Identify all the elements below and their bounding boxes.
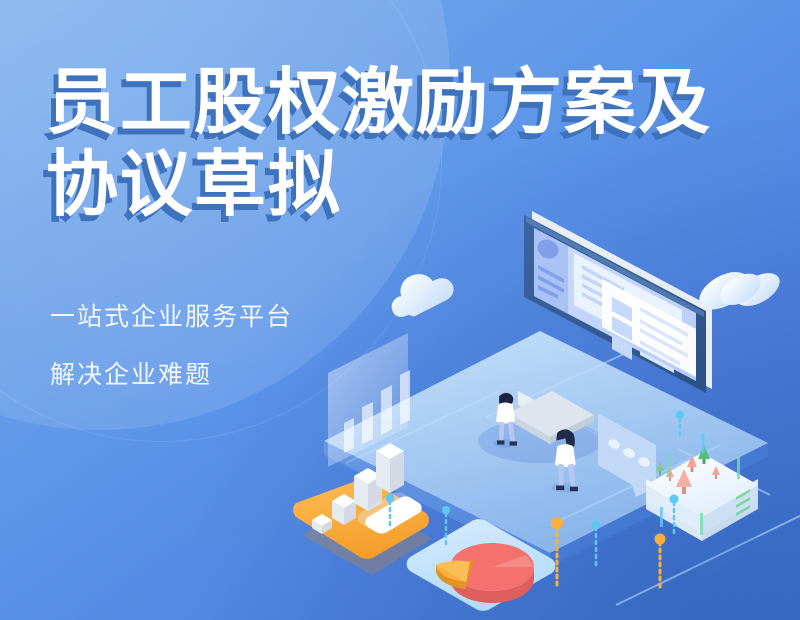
subtitle-line-1: 一站式企业服务平台 xyxy=(50,302,293,332)
marker-dot-orange-2 xyxy=(655,534,666,545)
subtitle-block: 一站式企业服务平台 解决企业难题 xyxy=(50,302,293,418)
isometric-illustration xyxy=(250,195,800,620)
marker-dot-cyan xyxy=(386,494,395,503)
title-line-2: 协议草拟 xyxy=(46,144,712,226)
promo-banner: 员工股权激励方案及 协议草拟 一站式企业服务平台 解决企业难题 xyxy=(0,0,800,620)
title-line-1: 员工股权激励方案及 xyxy=(46,62,712,144)
marker-dot-cyan-2 xyxy=(442,506,450,514)
bar-cube-4 xyxy=(376,443,404,493)
marker-dot-cyan-5 xyxy=(676,411,684,419)
marker-dot-orange xyxy=(551,517,563,529)
marker-dot-cyan-4 xyxy=(592,521,601,530)
marker-dot-cyan-3 xyxy=(670,495,679,504)
subtitle-line-2: 解决企业难题 xyxy=(50,360,293,390)
headline-block: 员工股权激励方案及 协议草拟 xyxy=(46,62,712,226)
